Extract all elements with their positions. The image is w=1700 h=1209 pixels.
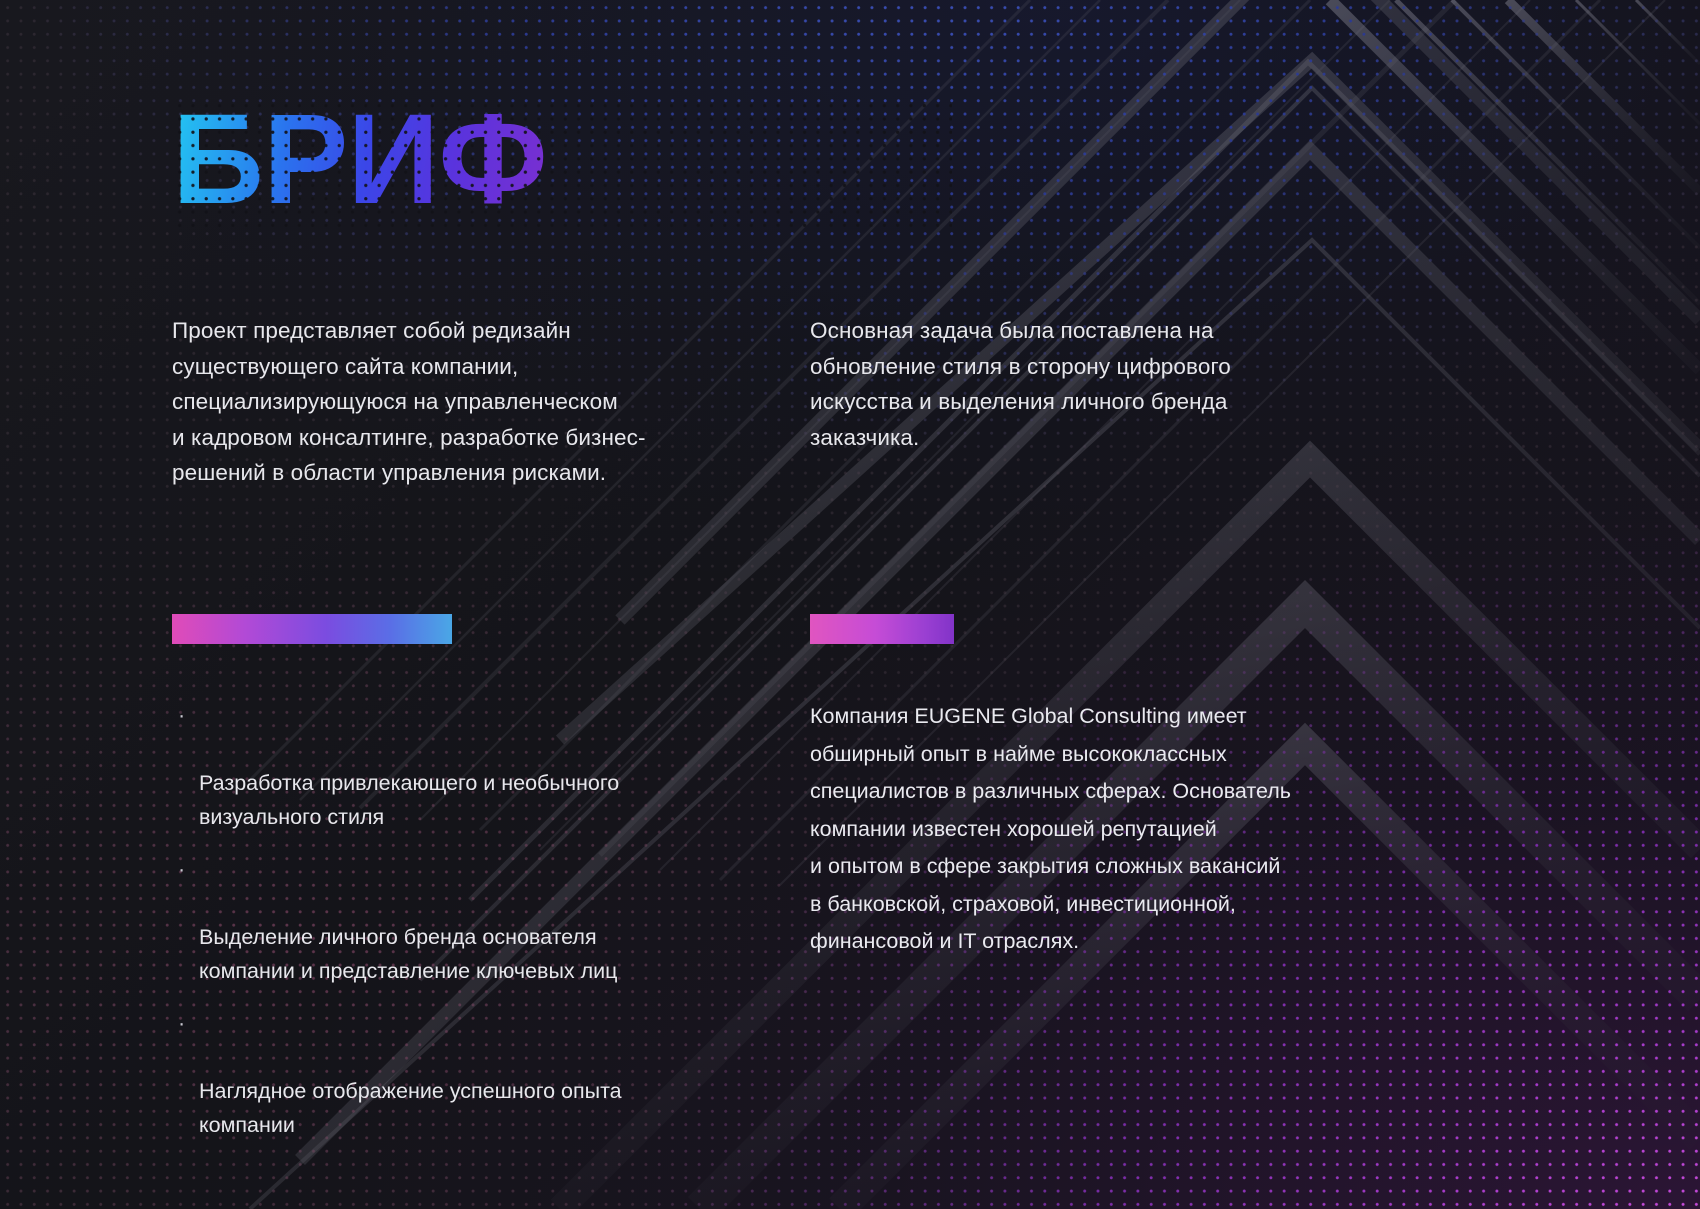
key-tasks-list-block: · Разработка привлекающего и необычного …	[172, 698, 747, 1160]
list-item-label: Наглядное отображение успешного опыта ко…	[199, 1079, 622, 1137]
key-tasks-list: · Разработка привлекающего и необычного …	[172, 698, 747, 1142]
left-section-heading-block: Ключевые задачи:	[172, 614, 747, 644]
left-lead-paragraph-block: Проект представляет собой редизайн сущес…	[172, 313, 747, 491]
list-item-label: Выделение личного бренда основателя комп…	[199, 925, 618, 983]
right-lead-paragraph: Основная задача была поставлена на обнов…	[810, 313, 1410, 455]
slide-title-wrap: БРИФ	[172, 96, 932, 226]
list-item-label: Разработка привлекающего и необычного ви…	[199, 771, 619, 829]
client-body-block: Компания EUGENE Global Consulting имеет …	[810, 698, 1410, 961]
bullet-marker-icon: ·	[178, 852, 185, 886]
slide-root: БРИФ Проект представляет собой редизайн …	[0, 0, 1700, 1209]
left-lead-paragraph: Проект представляет собой редизайн сущес…	[172, 313, 747, 491]
heading-key-tasks: Ключевые задачи:	[172, 614, 452, 644]
client-body-paragraph: Компания EUGENE Global Consulting имеет …	[810, 698, 1410, 961]
bullet-marker-icon: ·	[178, 1006, 185, 1040]
right-lead-paragraph-block: Основная задача была поставлена на обнов…	[810, 313, 1410, 455]
bullet-marker-icon: ·	[178, 698, 185, 732]
right-section-heading-block: Заказчик:	[810, 614, 1410, 644]
page-title: БРИФ	[172, 96, 547, 224]
heading-client: Заказчик:	[810, 614, 954, 644]
list-item: · Разработка привлекающего и необычного …	[172, 698, 747, 834]
list-item: · Наглядное отображение успешного опыта …	[172, 1006, 747, 1142]
list-item: · Выделение личного бренда основателя ко…	[172, 852, 747, 988]
